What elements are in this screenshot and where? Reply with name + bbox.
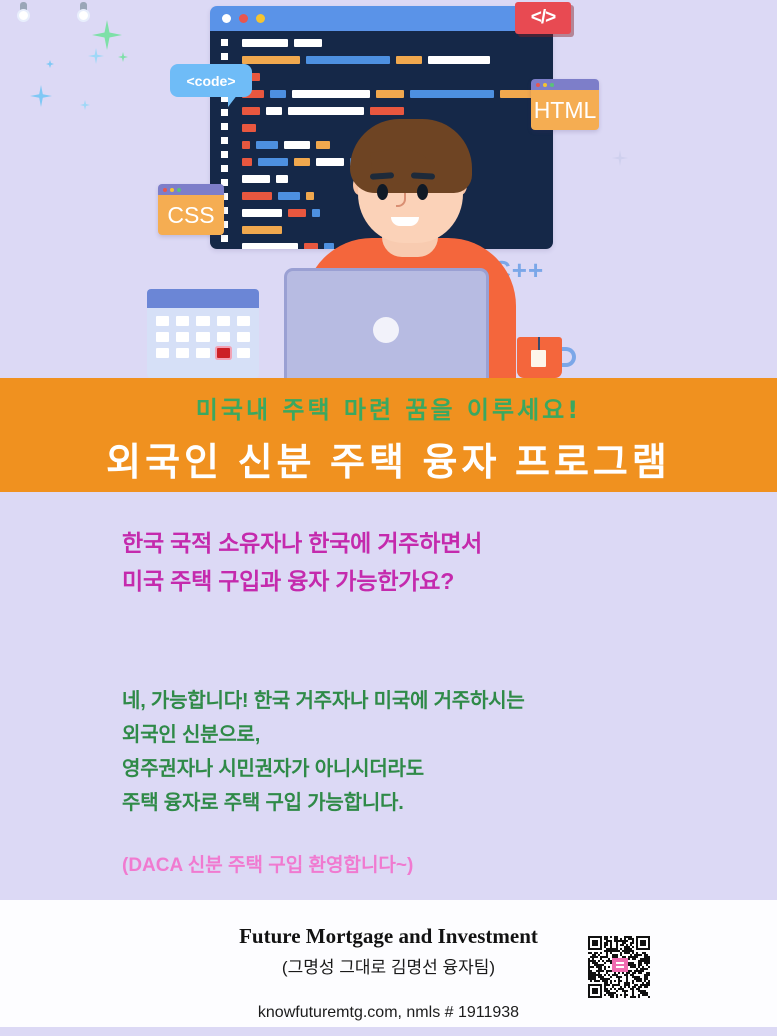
calendar-day — [237, 316, 250, 326]
qr-code[interactable] — [588, 936, 650, 998]
calendar-day — [217, 332, 230, 342]
answer-line: 외국인 신분으로, — [122, 718, 777, 752]
code-line — [242, 39, 549, 47]
calendar-day-highlighted — [217, 348, 230, 358]
coffee-mug — [517, 337, 562, 378]
team-name: (그명성 그대로 김명선 융자팀) — [0, 953, 777, 978]
code-line — [242, 56, 549, 64]
sparkle-icon — [612, 150, 628, 166]
sparkle-icon — [30, 85, 52, 107]
sparkle-icon — [80, 100, 90, 110]
sparkle-icon — [118, 52, 128, 62]
code-speech-bubble: <code> — [170, 64, 252, 97]
code-slash-badge: </> — [515, 2, 571, 34]
body-copy: 한국 국적 소유자나 한국에 거주하면서 미국 주택 구입과 융자 가능한가요?… — [0, 492, 777, 900]
calendar-day — [156, 348, 169, 358]
daca-note: (DACA 신분 주택 구입 환영합니다~) — [122, 850, 777, 877]
window-dot-yellow[interactable] — [256, 14, 265, 23]
calendar-day — [176, 332, 189, 342]
window-dot-white[interactable] — [222, 14, 231, 23]
laptop-logo — [373, 317, 399, 343]
editor-titlebar — [210, 6, 553, 31]
question-line: 한국 국적 소유자나 한국에 거주하면서 — [122, 524, 777, 562]
tea-bag-tag — [531, 350, 546, 367]
sparkle-icon — [88, 48, 104, 64]
css-card-label: CSS — [158, 195, 224, 235]
tea-bag-string — [538, 337, 540, 351]
question-line: 미국 주택 구입과 융자 가능한가요? — [122, 562, 777, 600]
calendar-day — [176, 348, 189, 358]
code-line — [242, 73, 549, 81]
calendar-day — [237, 348, 250, 358]
calendar-icon — [147, 289, 259, 378]
bottom-strip — [0, 1027, 777, 1036]
html-card-titlebar — [531, 79, 599, 90]
company-name: Future Mortgage and Investment — [0, 924, 777, 949]
calendar-day — [176, 316, 189, 326]
banner-title: 외국인 신분 주택 융자 프로그램 — [0, 431, 777, 486]
contact-info: knowfuturemtg.com, nmls # 1911938 — [0, 1004, 777, 1022]
banner-kicker: 미국내 주택 마련 꿈을 이루세요! — [0, 378, 777, 425]
title-banner: 미국내 주택 마련 꿈을 이루세요! 외국인 신분 주택 융자 프로그램 — [0, 378, 777, 492]
code-line — [242, 90, 549, 98]
calendar-day — [156, 316, 169, 326]
calendar-grid — [147, 308, 259, 366]
calendar-day — [156, 332, 169, 342]
calendar-day — [196, 332, 209, 342]
answer-line: 영주권자나 시민권자가 아니시더라도 — [122, 752, 777, 786]
answer-line: 네, 가능합니다! 한국 거주자나 미국에 거주하시는 — [122, 684, 777, 718]
footer: Future Mortgage and Investment (그명성 그대로 … — [0, 900, 777, 1027]
css-card: CSS — [158, 184, 224, 235]
character-eye-left — [377, 184, 388, 200]
calendar-day — [217, 316, 230, 326]
calendar-header — [147, 289, 259, 308]
character-eye-right — [417, 184, 428, 200]
html-card: HTML — [531, 79, 599, 130]
answer-line: 주택 융자로 주택 구입 가능합니다. — [122, 786, 777, 820]
calendar-day — [196, 348, 209, 358]
css-card-titlebar — [158, 184, 224, 195]
html-card-label: HTML — [531, 90, 599, 130]
calendar-day — [237, 332, 250, 342]
character-eyebrow-right — [411, 172, 435, 179]
calendar-day — [196, 316, 209, 326]
hero-illustration: </> <code> HTML CSS C++ — [0, 0, 777, 378]
calendar-hole-right — [77, 9, 90, 22]
answer-block: 네, 가능합니다! 한국 거주자나 미국에 거주하시는 외국인 신분으로, 영주… — [122, 684, 777, 877]
window-dot-red[interactable] — [239, 14, 248, 23]
poster: </> <code> HTML CSS C++ — [0, 0, 777, 1036]
sparkle-icon — [46, 60, 54, 68]
sparkle-icon — [92, 20, 122, 50]
calendar-hole-left — [17, 9, 30, 22]
